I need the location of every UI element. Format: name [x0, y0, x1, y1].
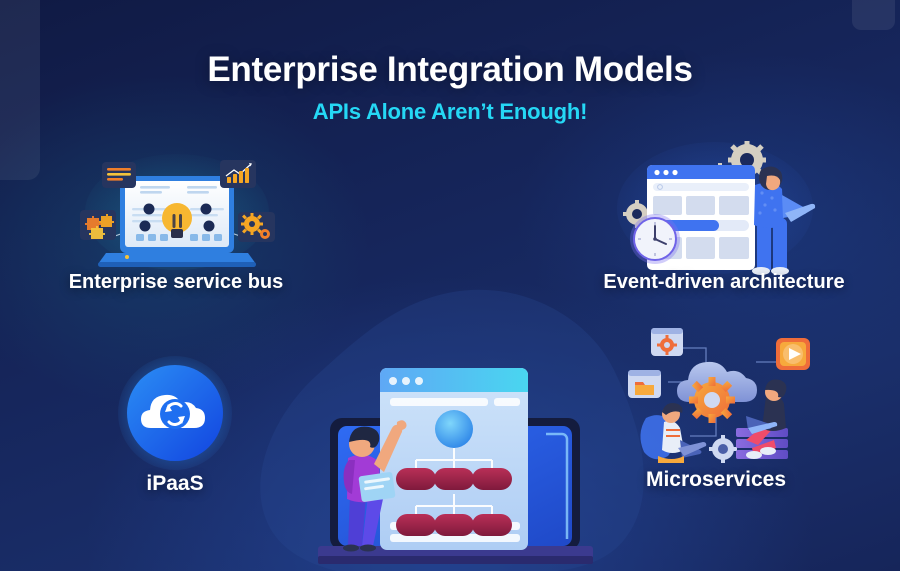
clock-icon [630, 214, 680, 264]
label-enterprise-service-bus: Enterprise service bus [0, 271, 352, 294]
label-microservices: Microservices [616, 468, 816, 492]
node-circle-icon [435, 410, 473, 448]
illustration-ipaas [118, 356, 232, 470]
gear-card-icon [238, 212, 275, 242]
infographic-canvas: Enterprise Integration Models APIs Alone… [0, 0, 900, 571]
bar-chart-card-icon [220, 160, 256, 188]
puzzle-card-icon [80, 210, 116, 240]
sync-arrows-icon [160, 399, 190, 429]
gear-icon-small [709, 435, 737, 463]
settings-card-icon [651, 328, 683, 356]
play-card-icon [776, 338, 810, 370]
node-pill-group-row1 [396, 468, 512, 490]
list-card-icon [102, 162, 136, 188]
node-pill-group-row2 [396, 514, 512, 536]
gear-icon [689, 377, 735, 423]
page-title: Enterprise Integration Models [0, 50, 900, 90]
illustration-center-hierarchy [318, 356, 593, 571]
label-ipaas: iPaaS [84, 472, 266, 496]
illustration-event-driven-architecture [615, 140, 815, 275]
folder-card-icon [628, 370, 661, 398]
illustration-microservices [628, 318, 813, 463]
header: Enterprise Integration Models APIs Alone… [0, 50, 900, 125]
page-subtitle: APIs Alone Aren’t Enough! [0, 99, 900, 125]
label-event-driven-architecture: Event-driven architecture [548, 271, 900, 294]
corner-decoration-top-right [852, 0, 895, 30]
illustration-enterprise-service-bus [80, 150, 275, 270]
